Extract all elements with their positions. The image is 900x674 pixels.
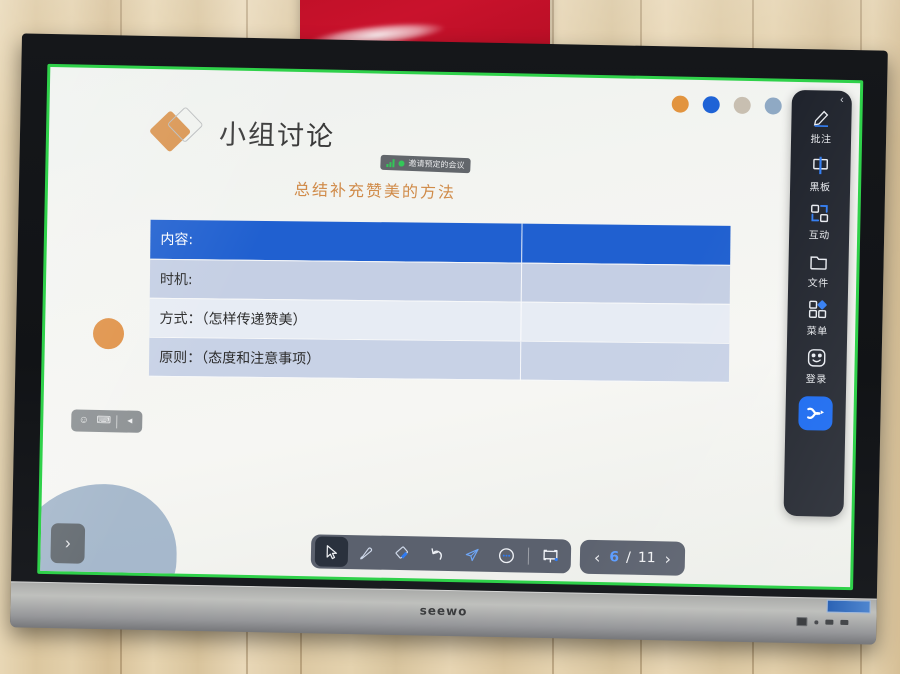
eraser-icon — [392, 544, 410, 562]
emoji-icon[interactable]: ☺ — [76, 414, 91, 428]
table-cell-label: 时机: — [150, 259, 522, 302]
slide-subtitle: 总结补充赞美的方法 — [294, 176, 456, 203]
folder-file-icon — [806, 250, 830, 272]
dot-blue — [703, 96, 720, 113]
circle-dots-icon — [497, 546, 516, 565]
decorative-dots — [672, 95, 782, 114]
toolbar-divider — [528, 547, 529, 564]
eraser-tool[interactable] — [385, 538, 419, 569]
sidebar-item-label: 文件 — [808, 274, 829, 289]
screen-capture-icon — [541, 546, 560, 565]
dot-steel — [765, 97, 782, 114]
collapse-icon[interactable]: ◂ — [122, 414, 137, 428]
decorative-circle — [93, 318, 125, 350]
sidebar-item-menu[interactable]: 菜单 — [789, 294, 846, 340]
seewo-interactive-display: 邀请预定的会议 — [10, 33, 888, 642]
sidebar-item-annotate[interactable]: 批注 — [793, 102, 850, 148]
brand-logo: seewo — [420, 603, 468, 618]
menu-grid-icon — [805, 298, 829, 320]
table-cell-label: 原则：（态度和注意事项） — [149, 337, 521, 380]
display-screen[interactable]: 小组讨论 总结补充赞美的方法 内容: 时机: 方式：（怎样 — [40, 67, 860, 587]
sidebar-item-label: 批注 — [810, 130, 831, 145]
table-cell-label: 方式：（怎样传递赞美） — [149, 298, 521, 341]
next-slide-button[interactable]: › — [662, 549, 673, 568]
cursor-arrow-icon — [323, 543, 340, 560]
device-ports — [796, 617, 848, 627]
more-tools[interactable] — [490, 540, 524, 571]
current-page-number: 6 — [609, 549, 619, 565]
signal-bars-icon — [386, 158, 394, 166]
sidebar-item-blackboard[interactable]: 黑板 — [792, 150, 849, 196]
table-row[interactable]: 时机: — [150, 259, 730, 304]
table-cell-blank — [520, 341, 729, 382]
sidebar-collapse-icon[interactable]: ‹ — [835, 93, 849, 107]
panda-login-icon — [804, 346, 828, 368]
table-cell-label: 内容: — [150, 220, 522, 263]
keyboard-icon[interactable]: ⌨ — [96, 414, 111, 428]
tool-group[interactable] — [311, 534, 572, 573]
pen-annotate-icon — [809, 106, 833, 128]
sidebar-item-label: 登录 — [806, 370, 827, 385]
table-row[interactable]: 内容: — [150, 220, 730, 265]
blackboard-icon — [808, 154, 832, 176]
toolbar-divider — [116, 415, 117, 428]
presentation-slide[interactable]: 小组讨论 总结补充赞美的方法 内容: 时机: 方式：（怎样 — [40, 67, 860, 587]
sidebar-item-label: 黑板 — [809, 178, 830, 193]
orange-diamond-icon — [153, 107, 204, 154]
sidebar-item-files[interactable]: 文件 — [790, 246, 847, 292]
prev-slide-button[interactable]: ‹ — [592, 547, 603, 566]
display-bezel: 邀请预定的会议 — [10, 33, 888, 642]
undo-tool[interactable] — [420, 538, 454, 569]
discussion-table[interactable]: 内容: 时机: 方式：（怎样传递赞美） 原则：（态度和注意事项） — [149, 220, 731, 383]
pen-icon — [358, 544, 375, 561]
sidebar-item-label: 菜单 — [807, 322, 828, 337]
interaction-icon — [807, 202, 831, 224]
sidebar-item-login[interactable]: 登录 — [788, 342, 845, 388]
cursor-select-tool[interactable] — [315, 536, 349, 567]
easinote-app-icon[interactable] — [798, 396, 833, 431]
total-page-number: 11 — [638, 550, 656, 566]
floating-mini-toolbar[interactable]: ☺ ⌨ ◂ — [71, 409, 142, 432]
sidebar-item-interaction[interactable]: 互动 — [791, 198, 848, 244]
paper-plane-icon — [462, 545, 480, 563]
page-title: 小组讨论 — [219, 112, 336, 153]
device-sticker — [827, 600, 871, 614]
right-sidebar[interactable]: ‹ 批注 — [783, 90, 852, 517]
table-cell-blank — [521, 224, 730, 265]
pen-tool[interactable] — [350, 537, 384, 568]
undo-arrow-icon — [427, 545, 445, 563]
dot-orange — [672, 95, 689, 112]
expand-panel-icon[interactable]: › — [50, 523, 85, 564]
table-row[interactable]: 方式：（怎样传递赞美） — [149, 298, 729, 343]
dot-tan — [734, 97, 751, 114]
laser-pointer-tool[interactable] — [455, 539, 489, 570]
slide-title-row: 小组讨论 — [153, 107, 336, 157]
sidebar-item-label: 互动 — [809, 226, 830, 241]
page-separator: / — [626, 550, 631, 566]
table-row[interactable]: 原则：（态度和注意事项） — [149, 337, 729, 382]
screen-green-border: 小组讨论 总结补充赞美的方法 内容: 时机: 方式：（怎样 — [37, 64, 863, 590]
slide-pagination[interactable]: ‹ 6 / 11 › — [580, 540, 686, 576]
table-cell-blank — [521, 302, 730, 343]
screen-capture-tool[interactable] — [534, 541, 568, 572]
status-badge-label: 邀请预定的会议 — [408, 158, 464, 171]
table-cell-blank — [521, 263, 730, 304]
green-status-dot-icon — [398, 160, 404, 166]
